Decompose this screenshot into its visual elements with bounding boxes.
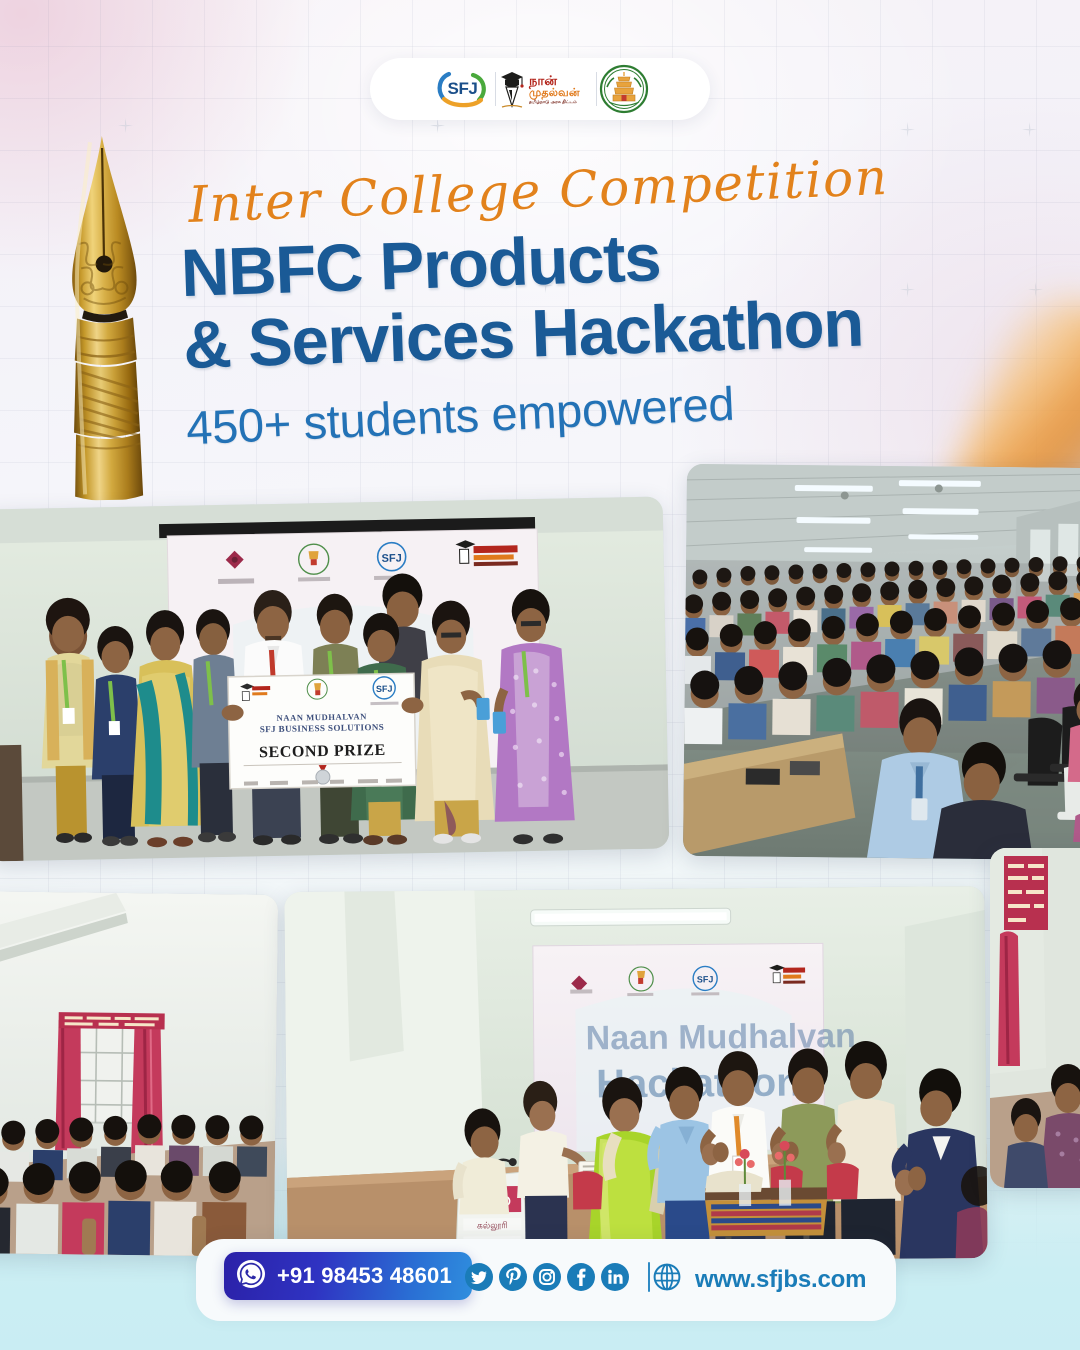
phone-number: +91 98453 48601: [277, 1263, 452, 1289]
photo-stage-felicitation: SFJ Naan Mudhalvan Hackathon ா: [284, 886, 987, 1264]
fountain-pen-illustration: [19, 131, 193, 502]
logo-divider: [495, 72, 496, 106]
naan-mudhalvan-logo: நான் முதல்வன் தமிழ்நாடு அரசு திட்டம்: [498, 67, 594, 111]
sfj-logo-text: SFJ: [431, 67, 493, 111]
cheque-org-line1: NAAN MUDHALVAN: [276, 711, 367, 723]
svg-text:SFJ: SFJ: [381, 553, 401, 565]
website-url: www.sfjbs.com: [695, 1266, 866, 1294]
website-link[interactable]: www.sfjbs.com: [652, 1262, 866, 1297]
poster-canvas: SFJ நான்: [0, 0, 1080, 1350]
social-links: [464, 1262, 664, 1292]
sparkle-icon: [430, 118, 445, 133]
naan-mudhalvan-line2: முதல்வன்: [529, 88, 580, 99]
photo-award-ceremony: SFJ: [0, 496, 669, 861]
naan-mudhalvan-line3: தமிழ்நாடு அரசு திட்டம்: [529, 100, 580, 105]
globe-icon: [652, 1262, 682, 1297]
svg-text:கல்லூரி: கல்லூரி: [477, 1220, 508, 1231]
instagram-icon[interactable]: [532, 1262, 562, 1292]
sparkle-icon: [1022, 122, 1037, 137]
logo-divider: [596, 72, 597, 106]
twitter-icon[interactable]: [464, 1262, 494, 1292]
sparkle-icon: [900, 122, 915, 137]
photo-side-crop: [990, 848, 1080, 1188]
sparkle-icon: [1028, 282, 1043, 297]
linkedin-icon[interactable]: [600, 1262, 630, 1292]
partner-logo-bar: SFJ நான்: [370, 58, 710, 120]
page-title: NBFC Products & Services Hackathon: [180, 215, 974, 378]
whatsapp-phone-button[interactable]: +91 98453 48601: [224, 1252, 472, 1300]
pinterest-icon[interactable]: [498, 1262, 528, 1292]
tamil-nadu-government-emblem: [599, 67, 649, 111]
svg-text:SFJ: SFJ: [376, 684, 393, 694]
photo-audience-hall: [683, 464, 1080, 860]
footer-divider: [648, 1262, 650, 1292]
whatsapp-icon: [236, 1259, 266, 1294]
svg-text:SFJ: SFJ: [697, 974, 714, 984]
naan-mudhalvan-line1: நான்: [529, 74, 580, 87]
sfj-logo: SFJ: [431, 67, 493, 111]
cheque-prize-text: SECOND PRIZE: [259, 742, 386, 761]
photo-classroom-session: [0, 891, 278, 1257]
facebook-icon[interactable]: [566, 1262, 596, 1292]
